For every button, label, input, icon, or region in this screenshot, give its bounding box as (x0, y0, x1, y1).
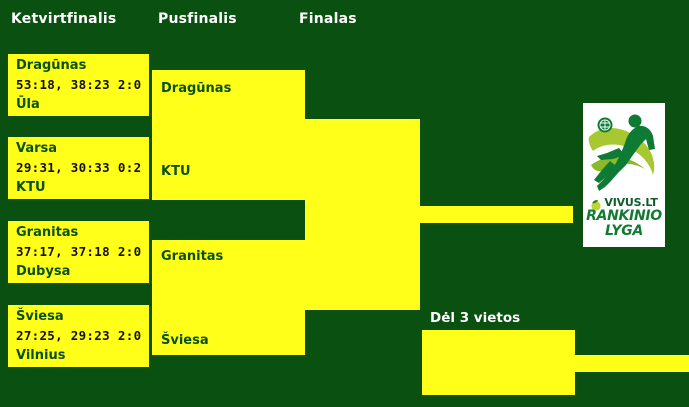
round-header-final: Finalas (299, 11, 357, 27)
qf2-home-team: Varsa (16, 139, 149, 158)
qf3-aggregate: 2:0 (118, 244, 141, 259)
quarterfinal-match-3[interactable]: Granitas 37:17, 37:182:0 Dubysa (8, 221, 149, 283)
quarterfinal-match-1[interactable]: Dragūnas 53:18, 38:232:0 Ūla (8, 54, 149, 116)
handball-player-icon (583, 103, 665, 203)
semifinalist-1-name: Dragūnas (161, 81, 231, 97)
qf2-away-team: KTU (16, 178, 149, 197)
qf4-legs: 27:25, 29:23 (16, 328, 110, 343)
qf4-score-line: 27:25, 29:232:0 (16, 326, 149, 346)
semifinalist-4-name: Šviesa (161, 333, 209, 349)
sponsor-league-line-2: LYGA (583, 224, 665, 239)
leaf-icon (590, 196, 602, 208)
third-place-block[interactable] (422, 330, 575, 395)
semifinal-divider-notch (152, 200, 274, 240)
sponsor-league-line-1: RANKINIO (583, 209, 665, 224)
round-header-quarterfinals: Ketvirtfinalis (11, 11, 116, 27)
round-header-semifinals: Pusfinalis (158, 11, 237, 27)
third-place-label: Dėl 3 vietos (430, 310, 520, 326)
tournament-bracket: Ketvirtfinalis Pusfinalis Finalas Dragūn… (0, 0, 689, 407)
semifinalist-3-name: Granitas (161, 249, 223, 265)
qf4-aggregate: 2:0 (118, 328, 141, 343)
qf3-legs: 37:17, 37:18 (16, 244, 110, 259)
third-place-winner-stem (575, 355, 689, 372)
sponsor-brand-text: VIVUS.LT (604, 196, 657, 209)
qf3-home-team: Granitas (16, 223, 149, 242)
final-winner-stem (418, 206, 573, 223)
sponsor-wordmark: VIVUS.LT RANKINIO LYGA (583, 195, 665, 239)
qf1-home-team: Dragūnas (16, 56, 149, 75)
quarterfinal-match-2[interactable]: Varsa 29:31, 30:330:2 KTU (8, 137, 149, 199)
qf2-aggregate: 0:2 (118, 160, 141, 175)
final-block (305, 119, 420, 310)
qf1-aggregate: 2:0 (118, 77, 141, 92)
qf4-away-team: Vilnius (16, 346, 149, 365)
qf3-away-team: Dubysa (16, 262, 149, 281)
sponsor-logo: VIVUS.LT RANKINIO LYGA (583, 103, 665, 247)
qf2-legs: 29:31, 30:33 (16, 160, 110, 175)
qf4-home-team: Šviesa (16, 307, 149, 326)
quarterfinal-match-4[interactable]: Šviesa 27:25, 29:232:0 Vilnius (8, 305, 149, 367)
qf1-score-line: 53:18, 38:232:0 (16, 75, 149, 95)
qf1-away-team: Ūla (16, 95, 149, 114)
semifinalist-2-name: KTU (161, 164, 191, 180)
qf3-score-line: 37:17, 37:182:0 (16, 242, 149, 262)
qf1-legs: 53:18, 38:23 (16, 77, 110, 92)
qf2-score-line: 29:31, 30:330:2 (16, 158, 149, 178)
